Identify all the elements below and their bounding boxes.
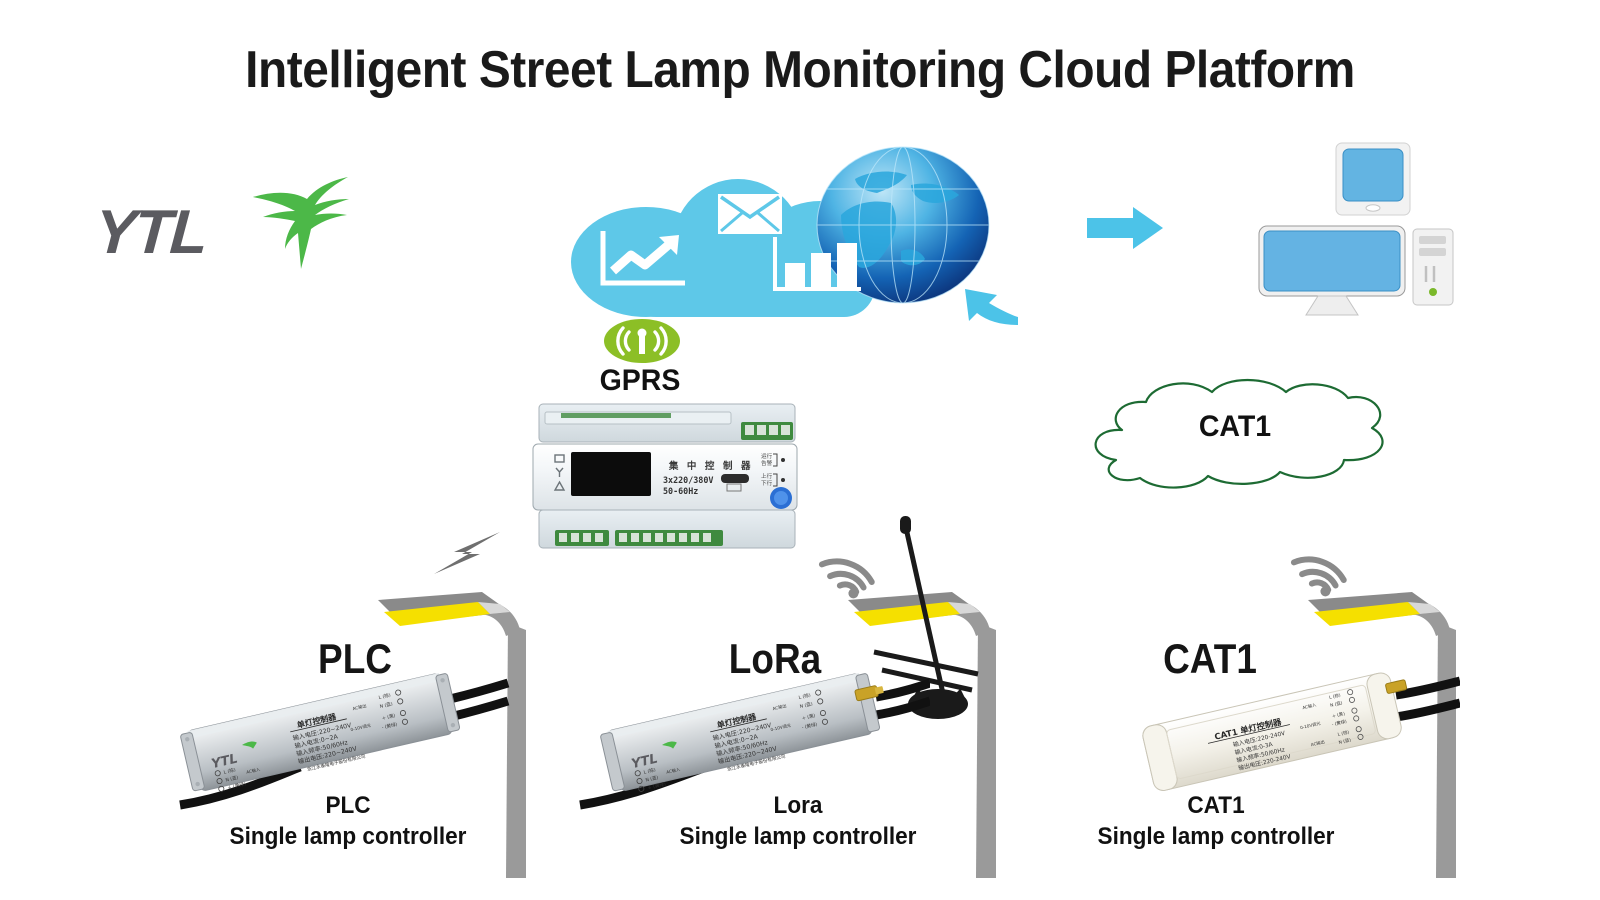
lora-caption: Lora Single lamp controller bbox=[676, 790, 920, 852]
cloud-platform-graphic bbox=[565, 145, 1005, 325]
cat1-caption-line1: CAT1 bbox=[1094, 790, 1338, 821]
wifi-signal-icon bbox=[1286, 541, 1354, 603]
arrow-right-icon bbox=[1085, 205, 1165, 251]
cat1-cloud-label: CAT1 bbox=[1069, 410, 1402, 444]
bird-logo-icon bbox=[245, 175, 350, 270]
bar-chart-icon bbox=[771, 235, 863, 295]
ytl-logo: YTL bbox=[95, 175, 345, 270]
logo-text: YTL bbox=[93, 197, 209, 268]
svg-text:下行: 下行 bbox=[761, 479, 773, 487]
plc-heading: PLC bbox=[245, 635, 465, 683]
cat1-heading: CAT1 bbox=[1100, 635, 1320, 683]
lora-caption-line2: Single lamp controller bbox=[676, 821, 920, 852]
cat1-network-cloud: CAT1 bbox=[1060, 370, 1410, 490]
svg-text:集 中 控 制 器: 集 中 控 制 器 bbox=[668, 460, 753, 472]
gprs-label: GPRS bbox=[564, 364, 716, 398]
line-chart-icon bbox=[597, 227, 689, 291]
pc-tower bbox=[1412, 228, 1454, 306]
desktop-monitor bbox=[1258, 225, 1406, 317]
lora-caption-line1: Lora bbox=[676, 790, 920, 821]
gprs-badge-icon bbox=[603, 318, 681, 364]
envelope-icon bbox=[717, 193, 783, 235]
lightning-bolt-icon bbox=[432, 530, 502, 578]
tablet-device bbox=[1335, 142, 1411, 216]
plc-caption: PLC Single lamp controller bbox=[226, 790, 470, 852]
central-controller: 集 中 控 制 器 3x220/380V 50-60Hz 运行告警 上行下行 bbox=[515, 398, 815, 558]
svg-text:运行: 运行 bbox=[761, 452, 773, 460]
plc-caption-line2: Single lamp controller bbox=[226, 821, 470, 852]
svg-text:50-60Hz: 50-60Hz bbox=[663, 486, 698, 496]
plc-caption-line1: PLC bbox=[226, 790, 470, 821]
svg-text:告警: 告警 bbox=[761, 459, 773, 467]
svg-text:上行: 上行 bbox=[761, 472, 773, 480]
cat1-caption-line2: Single lamp controller bbox=[1094, 821, 1338, 852]
lora-heading: LoRa bbox=[665, 635, 885, 683]
arrow-up-left-icon bbox=[955, 285, 1020, 327]
svg-text:3x220/380V: 3x220/380V bbox=[663, 475, 713, 485]
page-title: Intelligent Street Lamp Monitoring Cloud… bbox=[64, 40, 1536, 100]
cat1-caption: CAT1 Single lamp controller bbox=[1094, 790, 1338, 852]
